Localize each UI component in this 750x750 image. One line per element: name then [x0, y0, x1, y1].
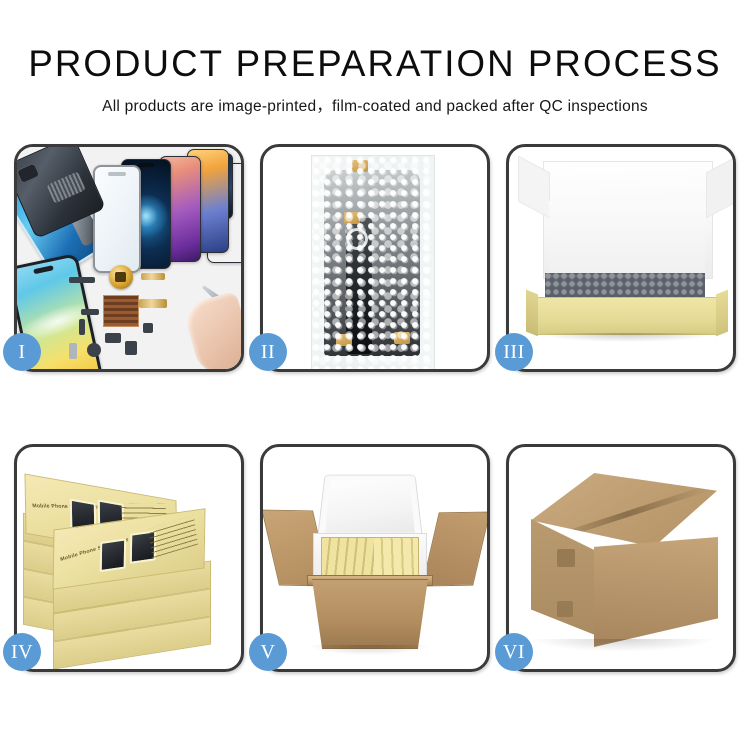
small-part-8	[143, 323, 153, 333]
sealed-carton-shadow	[535, 639, 711, 651]
packed-yellow-boxes	[321, 537, 419, 577]
small-part-6	[125, 341, 137, 355]
carton-handle-tab-upper	[557, 549, 575, 567]
page-title: PRODUCT PREPARATION PROCESS	[4, 0, 747, 86]
step-badge-6: VI	[495, 633, 533, 671]
lid-flap-left	[518, 155, 550, 218]
carton-handle-tab-lower	[557, 601, 573, 617]
technician-hand	[182, 291, 241, 369]
lid-flap-right	[706, 155, 733, 218]
header: PRODUCT PREPARATION PROCESS All products…	[0, 0, 750, 116]
process-step-1: I	[14, 144, 244, 372]
packed-yellow-boxes-right	[374, 538, 418, 576]
step-1-image	[17, 147, 241, 369]
step-badge-1: I	[3, 333, 41, 371]
step-badge-5: V	[249, 633, 287, 671]
box-edge-right	[716, 290, 728, 337]
front-glass-panel	[93, 165, 141, 273]
phone-parts-scene	[17, 147, 241, 369]
bubble-texture-overlay	[312, 156, 434, 369]
carton-body	[307, 579, 433, 649]
process-step-3: III	[506, 144, 736, 372]
camera-module	[17, 162, 40, 184]
box-window-2a	[100, 538, 127, 572]
small-part-7	[69, 343, 77, 359]
flex-cable-2	[139, 299, 167, 308]
small-part-2	[81, 309, 99, 315]
small-part-5	[87, 343, 101, 357]
page-subtitle: All products are image-printed，film-coat…	[0, 86, 750, 116]
carton-tape-seam	[545, 485, 710, 544]
inner-box-body	[535, 297, 719, 335]
sealed-carton-left-face	[531, 519, 595, 635]
box-shadow	[539, 333, 715, 342]
carton-shadow	[309, 645, 429, 655]
bubble-wrap-bag	[311, 155, 435, 369]
internal-coil	[47, 171, 86, 203]
process-step-5: V	[260, 444, 490, 672]
chip-array-component	[103, 295, 139, 327]
process-step-4: Mobile Phone Spare Parts Mobile Phone Sp…	[14, 444, 244, 672]
phone-notch	[138, 163, 154, 167]
inner-box-foam	[549, 201, 705, 275]
small-part-4	[105, 333, 121, 343]
speaker-component	[109, 265, 133, 289]
process-step-2: II	[260, 144, 490, 372]
step-5-image	[263, 447, 487, 669]
process-step-6: VI	[506, 444, 736, 672]
step-badge-3: III	[495, 333, 533, 371]
step-4-image: Mobile Phone Spare Parts Mobile Phone Sp…	[17, 447, 241, 669]
sealed-carton-front-face	[594, 537, 718, 647]
step-badge-4: IV	[3, 633, 41, 671]
small-part-3	[79, 319, 85, 335]
box-print-lines-2	[148, 515, 198, 558]
step-2-image	[263, 147, 487, 369]
foam-box-lid	[317, 475, 423, 541]
step-badge-2: II	[249, 333, 287, 371]
box-edge-left	[526, 290, 538, 337]
box-stack: Mobile Phone Spare Parts Mobile Phone Sp…	[23, 465, 239, 661]
small-part-bar	[69, 277, 95, 283]
process-step-grid: I II	[14, 144, 736, 672]
step-3-image	[509, 147, 733, 369]
flex-cable-1	[141, 273, 165, 280]
step-6-image	[509, 447, 733, 669]
